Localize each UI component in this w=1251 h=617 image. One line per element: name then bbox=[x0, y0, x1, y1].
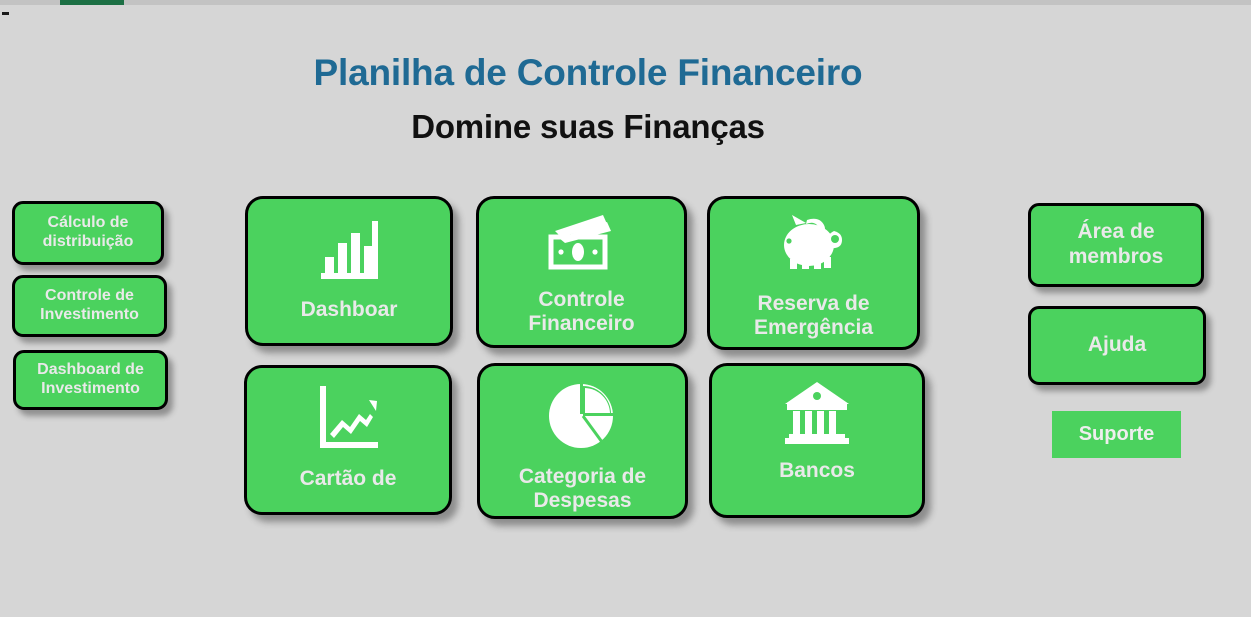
card-label: Categoria de Despesas bbox=[480, 465, 685, 514]
button-label: Ajuda bbox=[1088, 333, 1146, 358]
card-bancos[interactable]: Bancos bbox=[709, 363, 925, 518]
sidebar-item-label: Controle de Investimento bbox=[15, 287, 164, 325]
sidebar-item-calculo-distribuicao[interactable]: Cálculo de distribuição bbox=[12, 201, 164, 265]
piggy-bank-icon bbox=[776, 213, 852, 284]
app-screen: Planilha de Controle Financeiro Domine s… bbox=[0, 0, 1251, 617]
card-categoria-despesas[interactable]: Categoria de Despesas bbox=[477, 363, 688, 519]
card-label: Cartão de bbox=[294, 467, 403, 491]
top-strip bbox=[0, 0, 1251, 5]
page-subtitle: Domine suas Finanças bbox=[0, 108, 1176, 146]
card-cartao-de[interactable]: Cartão de bbox=[244, 365, 452, 515]
bar-chart-icon bbox=[313, 213, 385, 290]
sidebar-item-controle-investimento[interactable]: Controle de Investimento bbox=[12, 275, 167, 337]
ajuda-button[interactable]: Ajuda bbox=[1028, 306, 1206, 385]
banknotes-icon bbox=[545, 213, 619, 280]
suporte-button[interactable]: Suporte bbox=[1052, 411, 1181, 458]
pie-chart-icon bbox=[547, 380, 619, 457]
button-label: Área de membros bbox=[1031, 220, 1201, 270]
corner-mark bbox=[2, 12, 9, 15]
sidebar-item-label: Cálculo de distribuição bbox=[15, 214, 161, 252]
line-chart-up-icon bbox=[312, 382, 384, 459]
page-title: Planilha de Controle Financeiro bbox=[0, 52, 1176, 94]
card-label: Reserva de Emergência bbox=[710, 292, 917, 341]
sidebar-item-dashboard-investimento[interactable]: Dashboard de Investimento bbox=[13, 350, 168, 410]
bank-building-icon bbox=[781, 380, 853, 451]
sheet-tab-indicator[interactable] bbox=[60, 0, 124, 5]
card-label: Controle Financeiro bbox=[479, 288, 684, 337]
card-label: Bancos bbox=[773, 459, 861, 483]
area-de-membros-button[interactable]: Área de membros bbox=[1028, 203, 1204, 287]
card-label: Dashboar bbox=[295, 298, 404, 322]
card-reserva-emergencia[interactable]: Reserva de Emergência bbox=[707, 196, 920, 350]
card-controle-financeiro[interactable]: Controle Financeiro bbox=[476, 196, 687, 348]
card-dashboard[interactable]: Dashboar bbox=[245, 196, 453, 346]
sidebar-item-label: Dashboard de Investimento bbox=[16, 361, 165, 399]
button-label: Suporte bbox=[1079, 423, 1155, 446]
